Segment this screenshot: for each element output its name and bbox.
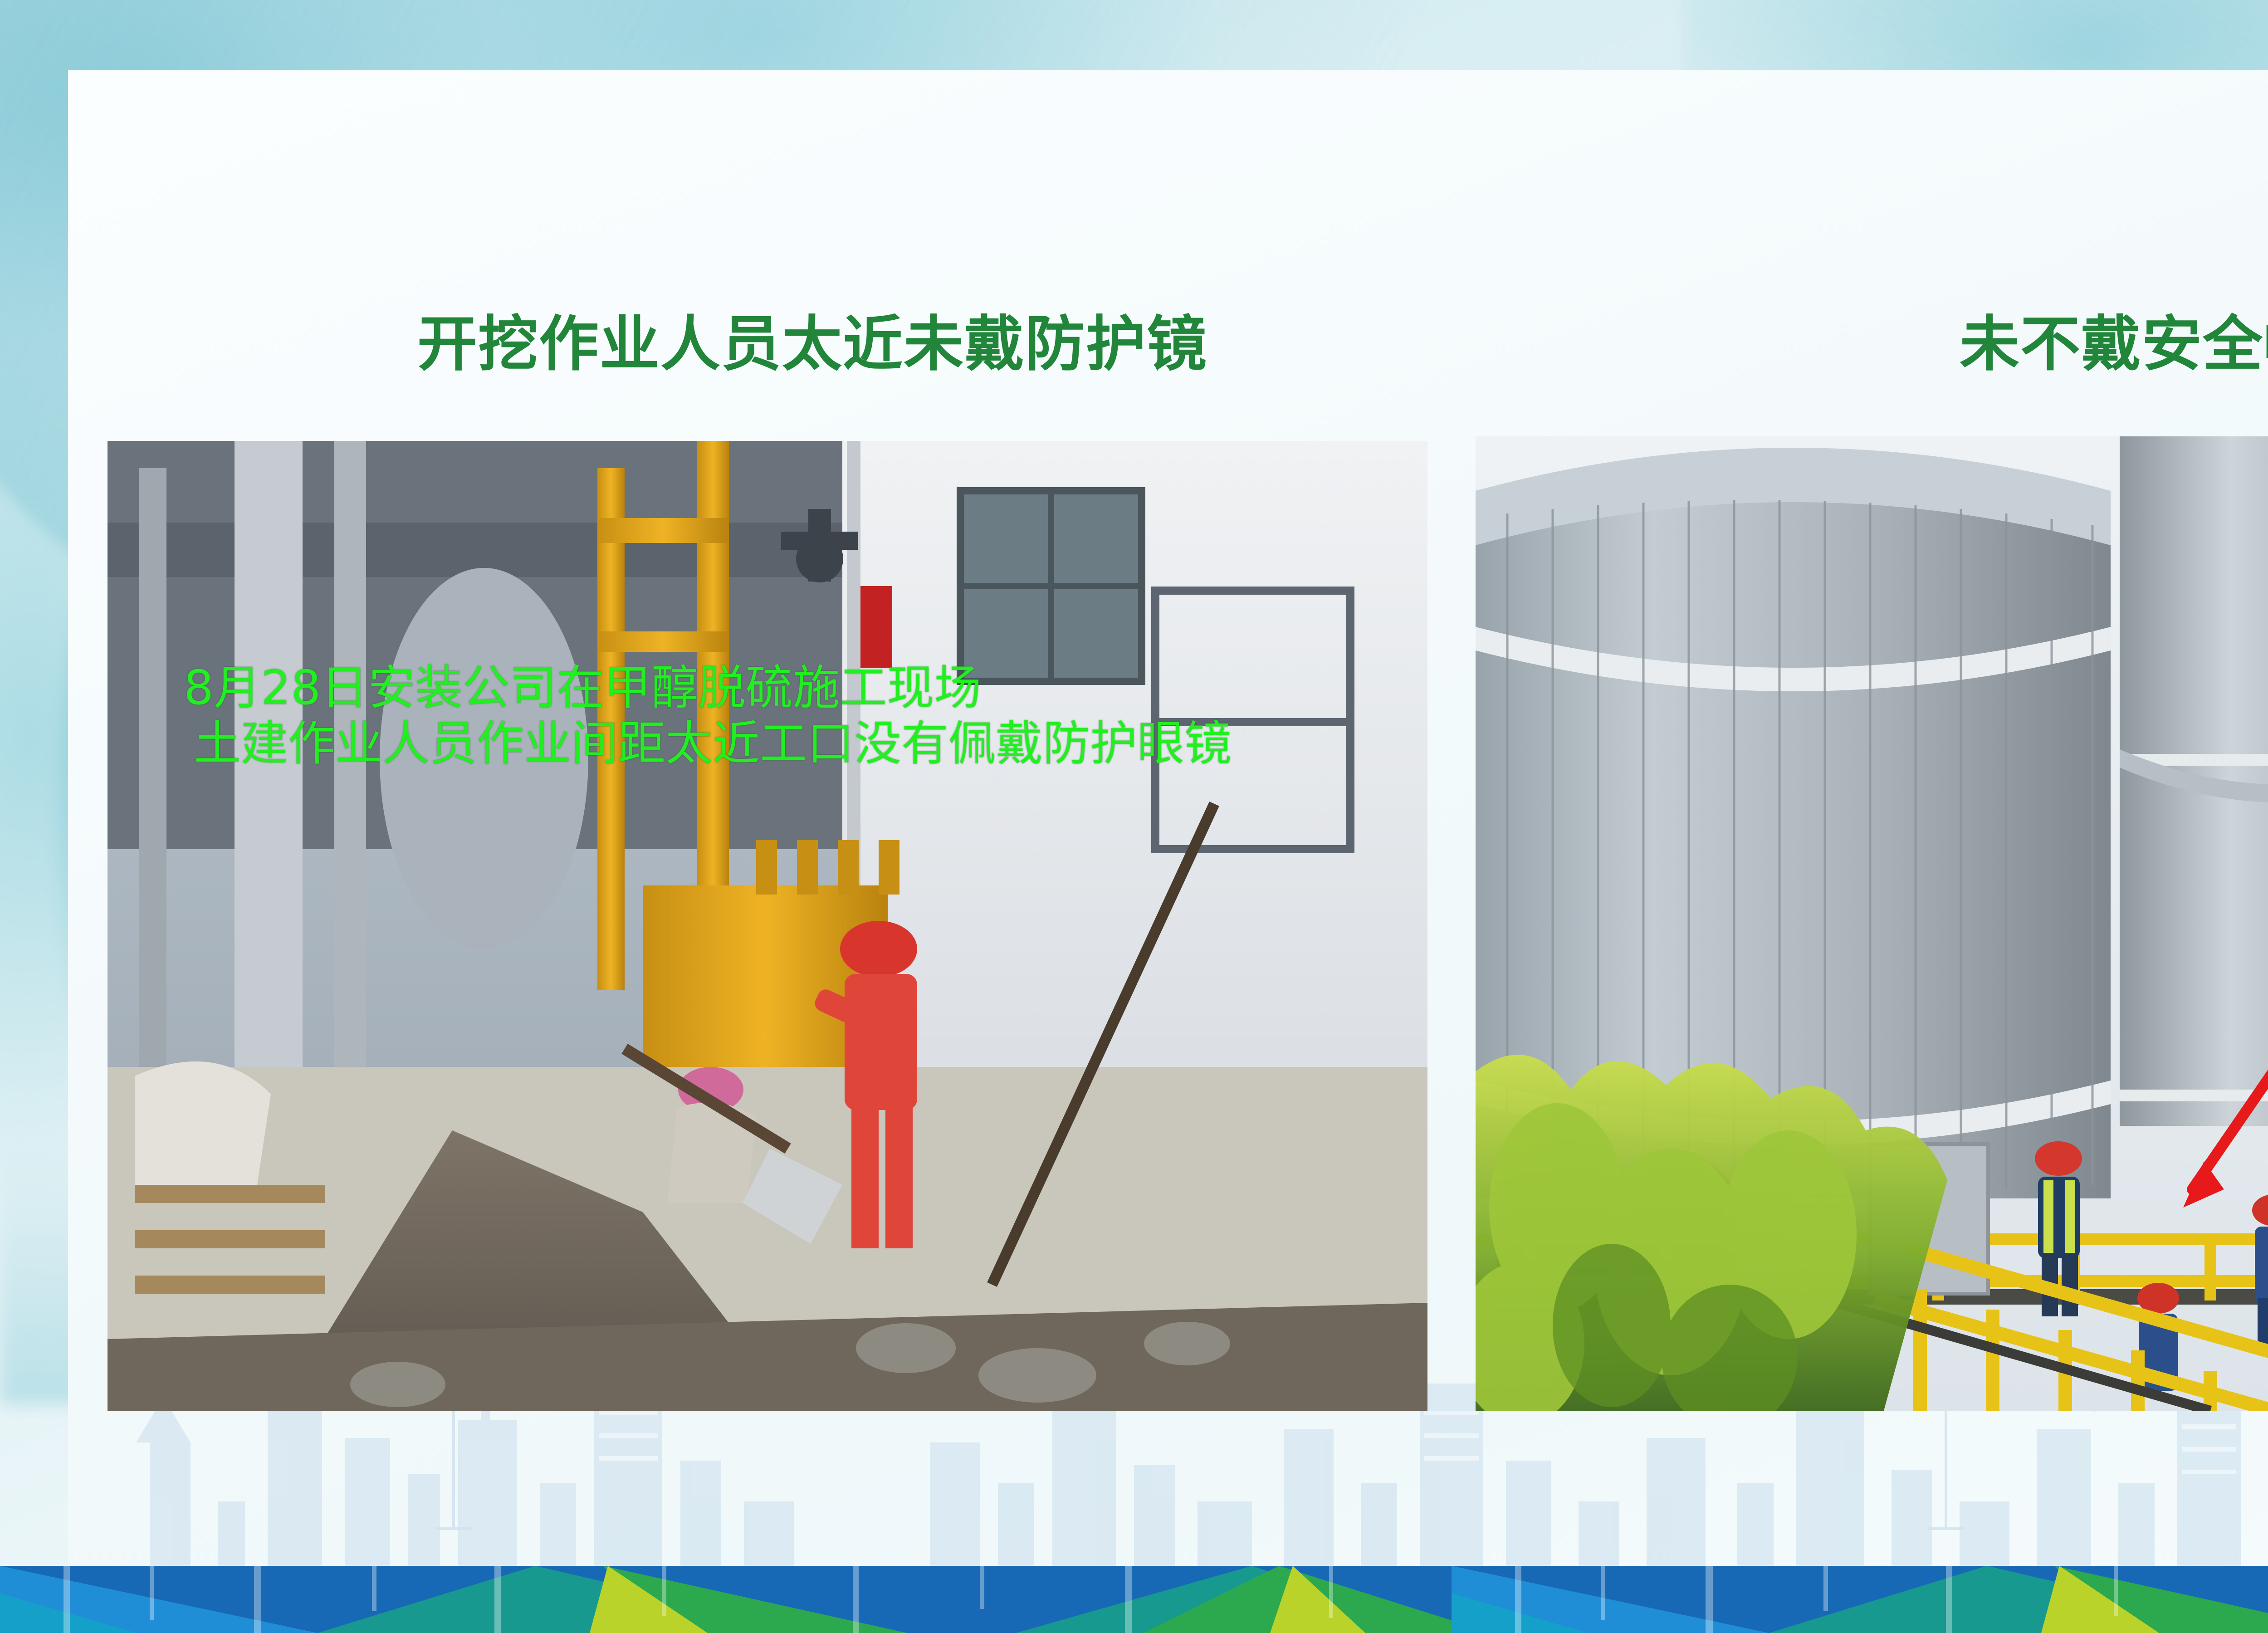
photo-storage-tanks[interactable] (1476, 436, 2268, 1411)
photo-excavation-site[interactable] (108, 441, 1427, 1411)
page-title-right: 未不戴安全帽 (1960, 296, 2268, 382)
bottom-color-band (0, 1566, 2268, 1633)
page-title-left: 开挖作业人员太近未戴防护镜 (417, 296, 1207, 382)
